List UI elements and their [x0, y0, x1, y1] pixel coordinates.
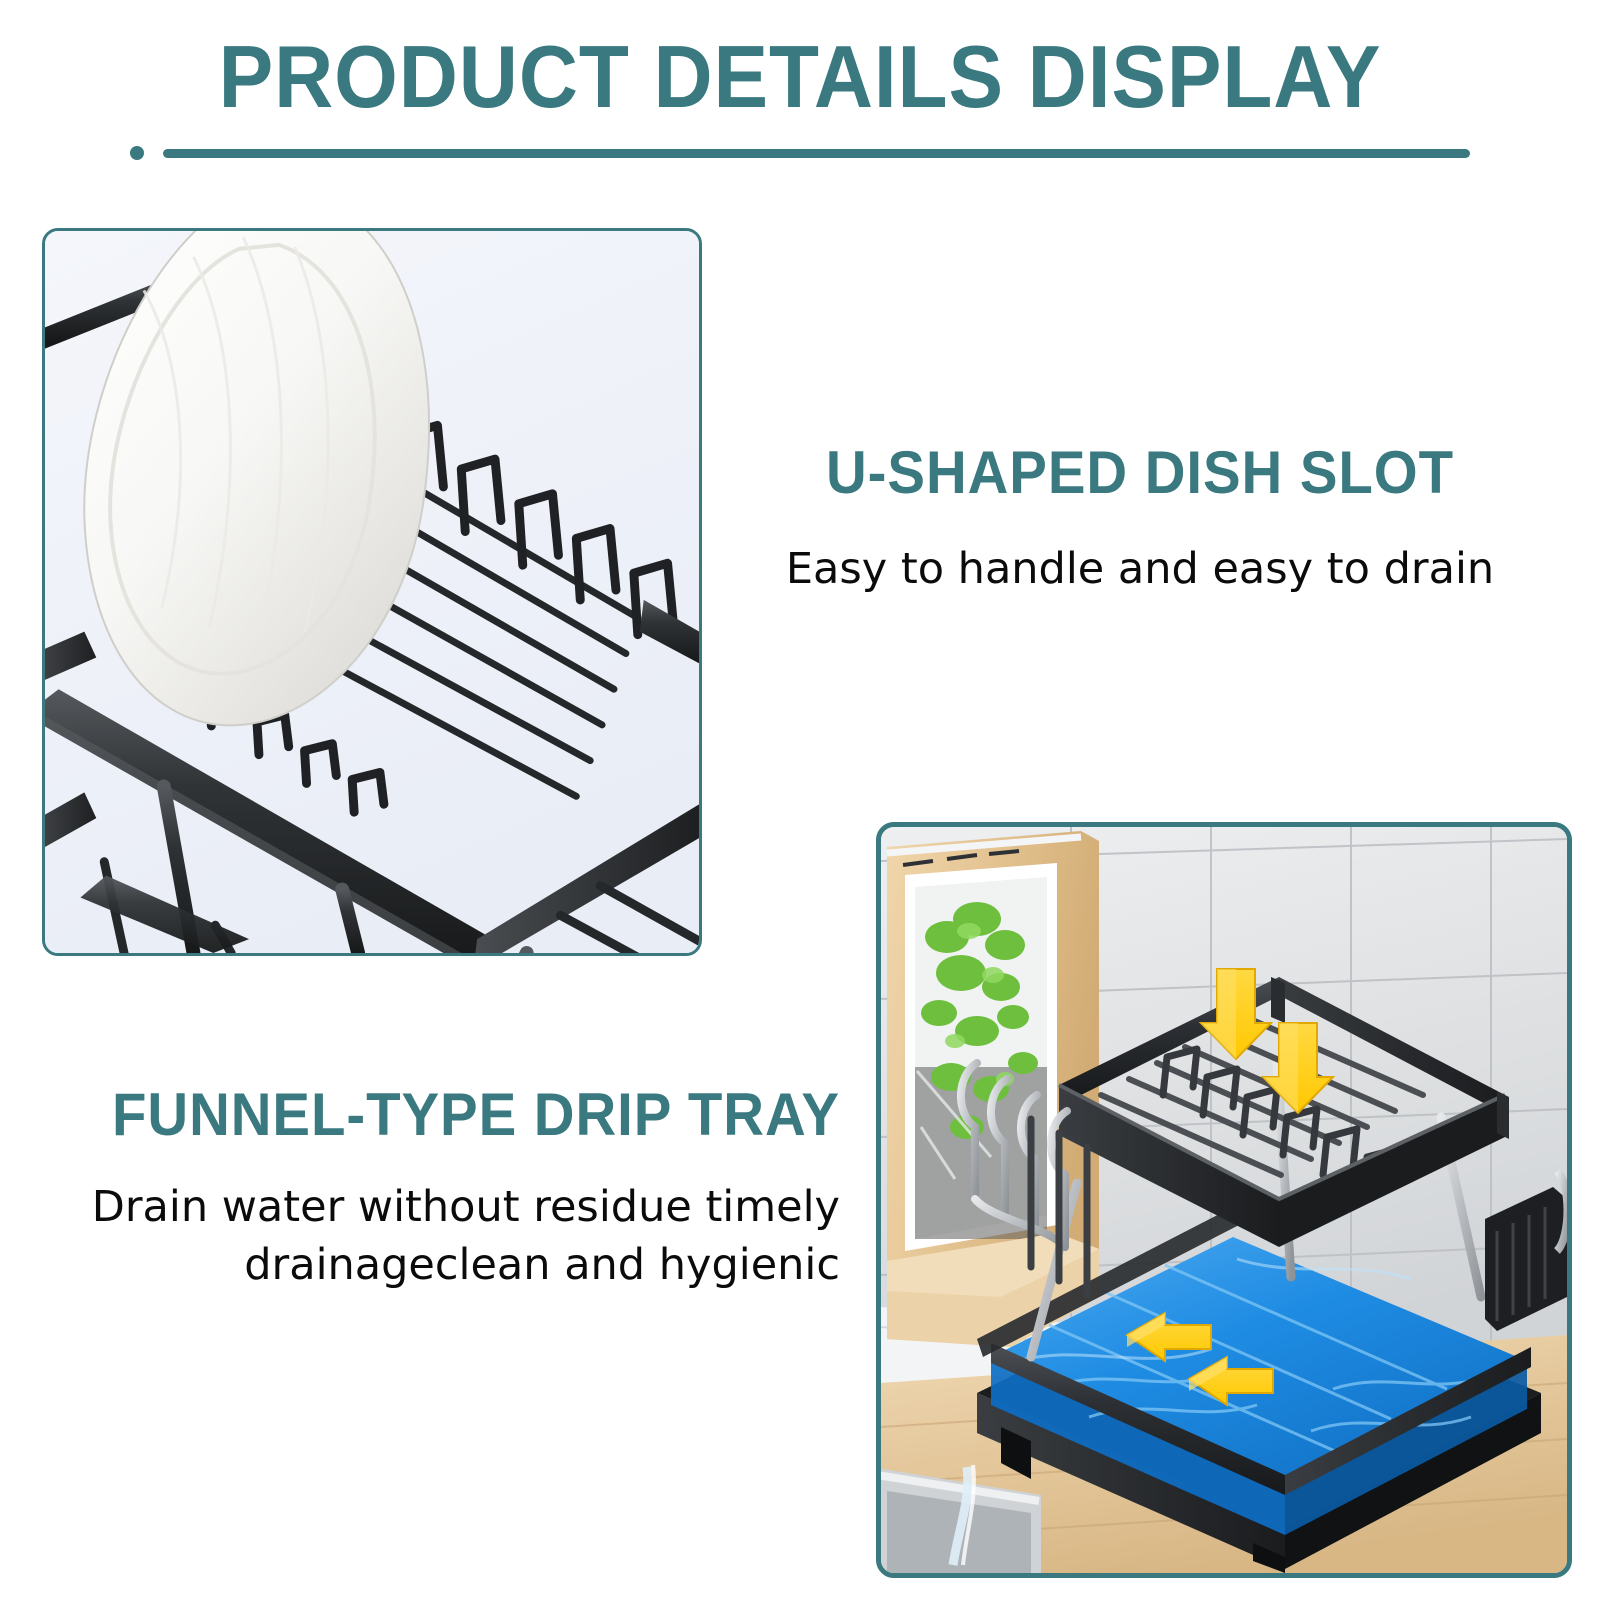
- page-title: PRODUCT DETAILS DISPLAY: [56, 30, 1544, 124]
- feature-heading-drip-tray: FUNNEL-TYPE DRIP TRAY: [88, 1082, 840, 1148]
- feature-block-dish-slot: U-SHAPED DISH SLOT Easy to handle and ea…: [760, 440, 1520, 598]
- dish-rack-illustration: [45, 231, 699, 953]
- divider-bar-icon: [163, 149, 1470, 158]
- feature-block-drip-tray: FUNNEL-TYPE DRIP TRAY Drain water withou…: [40, 1082, 840, 1294]
- feature-body-dish-slot: Easy to handle and easy to drain: [760, 540, 1520, 598]
- dish-rack-u-slot-photo: [42, 228, 702, 956]
- kitchen-drip-tray-photo: [876, 822, 1572, 1578]
- feature-body-drip-tray: Drain water without residue timely drain…: [40, 1178, 840, 1294]
- kitchen-scene-illustration: [881, 827, 1567, 1573]
- feature-heading-dish-slot: U-SHAPED DISH SLOT: [783, 440, 1497, 506]
- title-divider: [130, 146, 1470, 160]
- divider-dot-icon: [130, 146, 144, 160]
